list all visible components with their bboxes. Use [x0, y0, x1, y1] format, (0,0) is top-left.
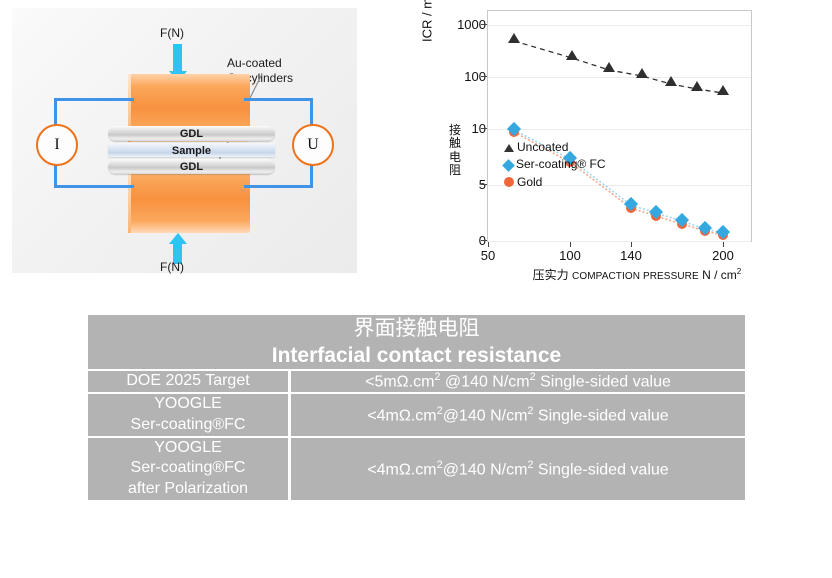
chart-legend: Uncoated Ser-coating® FC Gold	[504, 139, 606, 191]
x-tick-label-50: 50	[481, 248, 495, 263]
value-post: Single-sided value	[536, 374, 671, 391]
wire-right-bottom	[244, 185, 313, 188]
gdl-top-label: GDL	[108, 128, 275, 140]
row-value-yoogle-after-polarization: <4mΩ.cm2@140 N/cm2 Single-sided value	[291, 438, 745, 500]
y-tick-mark	[481, 240, 487, 241]
icr-chart: ICR / mΩ·cm2 接触电阻	[424, 4, 824, 286]
legend-label: Ser-coating® FC	[516, 156, 606, 173]
row-label-yoogle-after-polarization: YOOGLE Ser-coating®FC after Polarization	[88, 438, 291, 500]
triangle-icon	[504, 144, 514, 152]
value-pre: <4mΩ.cm	[367, 461, 436, 478]
current-meter: I	[36, 124, 78, 166]
table-header-cn: 界面接触电阻	[88, 315, 745, 342]
row-label-line: DOE 2025 Target	[88, 371, 288, 392]
x-axis-title-en: COMPACTION PRESSURE	[572, 271, 699, 282]
value-pre: <5mΩ.cm	[365, 374, 434, 391]
marker-uncoated	[603, 62, 615, 72]
x-axis-title-unit-sup: 2	[737, 267, 742, 276]
row-label-line: Ser-coating®FC	[88, 415, 288, 436]
gdl-bottom-label: GDL	[108, 161, 275, 173]
apparatus-diagram: F(N) Au-coated Cu cylinders I U GDL Samp…	[12, 8, 357, 273]
force-bottom-arrowhead	[169, 233, 187, 244]
table-row: DOE 2025 Target <5mΩ.cm2 @140 N/cm2 Sing…	[88, 371, 745, 392]
voltage-meter: U	[292, 124, 334, 166]
plot-area: Uncoated Ser-coating® FC Gold	[487, 10, 752, 242]
x-tick-mark	[723, 242, 724, 247]
row-label-line: Ser-coating®FC	[88, 458, 288, 479]
wire-right-top	[244, 98, 313, 101]
table-header-cell: 界面接触电阻 Interfacial contact resistance	[88, 315, 745, 369]
x-tick-label-100: 100	[559, 248, 581, 263]
y-axis-title-text: ICR / mΩ·cm	[419, 0, 434, 42]
diamond-icon	[502, 159, 515, 172]
marker-uncoated	[717, 85, 729, 95]
table-row: YOOGLE Ser-coating®FC after Polarization…	[88, 438, 745, 500]
y-tick-mark	[481, 184, 487, 185]
row-value-doe-target: <5mΩ.cm2 @140 N/cm2 Single-sided value	[291, 371, 745, 392]
row-label-line: YOOGLE	[88, 394, 288, 415]
cu-cylinder-bottom	[128, 165, 250, 233]
gridline-0	[488, 241, 751, 242]
y-tick-mark	[481, 24, 487, 25]
x-tick-label-140: 140	[620, 248, 642, 263]
row-value-yoogle-ser-coating: <4mΩ.cm2@140 N/cm2 Single-sided value	[291, 394, 745, 436]
marker-uncoated	[508, 33, 520, 43]
value-post: Single-sided value	[533, 461, 668, 478]
marker-uncoated	[691, 81, 703, 91]
x-axis-title: 压实力 COMPACTION PRESSURE N / cm2	[487, 266, 787, 283]
legend-item-uncoated: Uncoated	[504, 139, 606, 156]
row-label-line: YOOGLE	[88, 438, 288, 459]
wire-left-bottom	[54, 185, 134, 188]
y-tick-mark	[481, 128, 487, 129]
y-axis-title: ICR / mΩ·cm2	[418, 0, 434, 42]
x-tick-mark	[631, 242, 632, 247]
value-mid: @140 N/cm	[440, 374, 529, 391]
wire-left-top	[54, 98, 134, 101]
marker-uncoated	[665, 76, 677, 86]
legend-item-gold: Gold	[504, 174, 606, 191]
sample-label: Sample	[108, 145, 275, 157]
legend-label: Gold	[517, 174, 542, 191]
row-label-line: after Polarization	[88, 479, 288, 500]
x-axis-title-cn: 压实力	[533, 268, 569, 282]
table-row: YOOGLE Ser-coating®FC <4mΩ.cm2@140 N/cm2…	[88, 394, 745, 436]
legend-label: Uncoated	[517, 139, 568, 156]
interfacial-contact-resistance-table: 界面接触电阻 Interfacial contact resistance DO…	[88, 313, 745, 502]
marker-uncoated	[636, 68, 648, 78]
marker-uncoated	[566, 50, 578, 60]
row-label-doe-target: DOE 2025 Target	[88, 371, 291, 392]
x-tick-mark	[570, 242, 571, 247]
x-tick-label-200: 200	[712, 248, 734, 263]
legend-item-ser-coating: Ser-coating® FC	[504, 156, 606, 173]
table-header-row: 界面接触电阻 Interfacial contact resistance	[88, 315, 745, 369]
row-label-yoogle-ser-coating: YOOGLE Ser-coating®FC	[88, 394, 291, 436]
table-header-en: Interfacial contact resistance	[88, 342, 745, 369]
series-lines	[488, 11, 751, 241]
y-axis-title-cn: 接触电阻	[448, 124, 462, 178]
circle-icon	[504, 177, 514, 187]
value-post: Single-sided value	[533, 407, 668, 424]
force-bottom-label: F(N)	[160, 260, 184, 275]
x-axis-title-unit: N / cm	[702, 268, 737, 282]
x-tick-mark	[488, 242, 489, 247]
value-pre: <4mΩ.cm	[367, 407, 436, 424]
value-mid: @140 N/cm	[443, 407, 528, 424]
y-tick-mark	[481, 76, 487, 77]
value-mid: @140 N/cm	[443, 461, 528, 478]
